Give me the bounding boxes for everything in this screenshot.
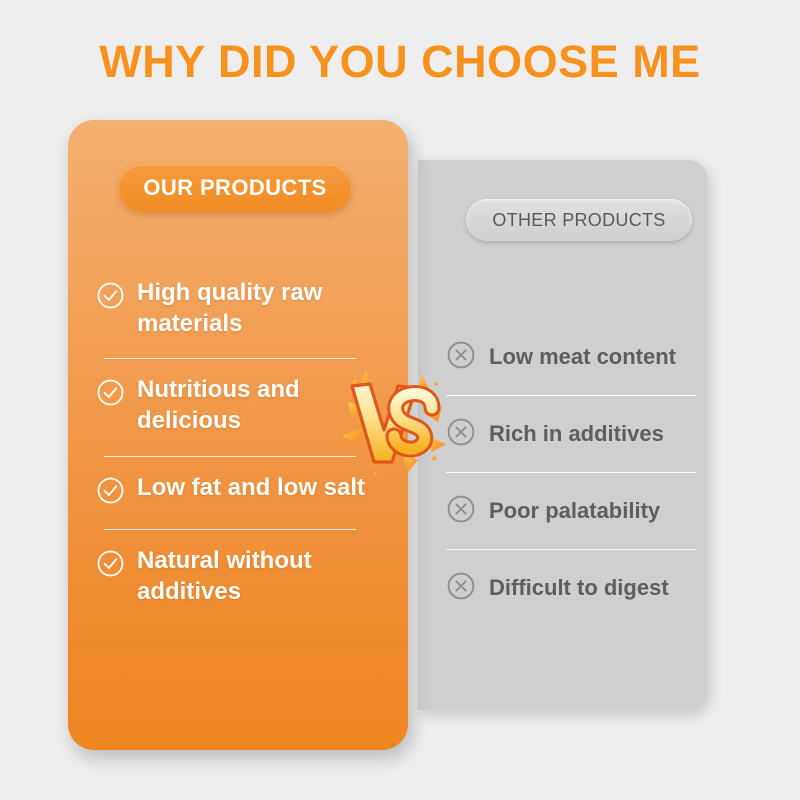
list-item-label: Nutritious and delicious — [137, 375, 369, 436]
list-item: Low fat and low salt — [96, 473, 374, 530]
infographic-canvas: WHY DID YOU CHOOSE ME OTHER PRODUCTS OUR… — [0, 0, 800, 800]
check-circle-icon — [96, 476, 125, 510]
list-divider — [446, 472, 696, 473]
list-item-label: Low meat content — [489, 344, 676, 370]
list-item: High quality raw materials — [96, 278, 374, 359]
other-products-badge: OTHER PRODUCTS — [466, 199, 692, 241]
x-circle-icon — [446, 494, 476, 529]
our-products-badge-label: OUR PRODUCTS — [143, 175, 326, 201]
other-products-badge-label: OTHER PRODUCTS — [492, 210, 665, 231]
list-divider — [446, 395, 696, 396]
our-products-list: High quality raw materials Nutritious an… — [96, 278, 374, 617]
check-circle-icon — [96, 281, 125, 315]
list-item-label: Difficult to digest — [489, 575, 669, 601]
list-item-label: High quality raw materials — [137, 278, 369, 339]
check-circle-icon — [96, 378, 125, 412]
x-circle-icon — [446, 417, 476, 452]
check-circle-icon — [96, 549, 125, 583]
our-products-badge: OUR PRODUCTS — [118, 164, 352, 212]
list-divider — [104, 529, 356, 530]
list-item-label: Low fat and low salt — [137, 473, 365, 504]
x-circle-icon — [446, 571, 476, 606]
list-item: Poor palatability — [446, 492, 696, 550]
list-divider — [104, 456, 356, 457]
list-item: Natural without additives — [96, 546, 374, 617]
page-title: WHY DID YOU CHOOSE ME — [0, 36, 800, 88]
x-circle-icon — [446, 340, 476, 375]
list-item-label: Natural without additives — [137, 546, 369, 607]
list-item: Nutritious and delicious — [96, 375, 374, 456]
list-item: Rich in additives — [446, 415, 696, 473]
list-divider — [104, 358, 356, 359]
list-item-label: Rich in additives — [489, 421, 664, 447]
list-item: Difficult to digest — [446, 569, 696, 607]
list-item-label: Poor palatability — [489, 498, 660, 524]
list-divider — [446, 549, 696, 550]
list-item: Low meat content — [446, 338, 696, 396]
other-products-list: Low meat content Rich in additives — [446, 338, 696, 607]
